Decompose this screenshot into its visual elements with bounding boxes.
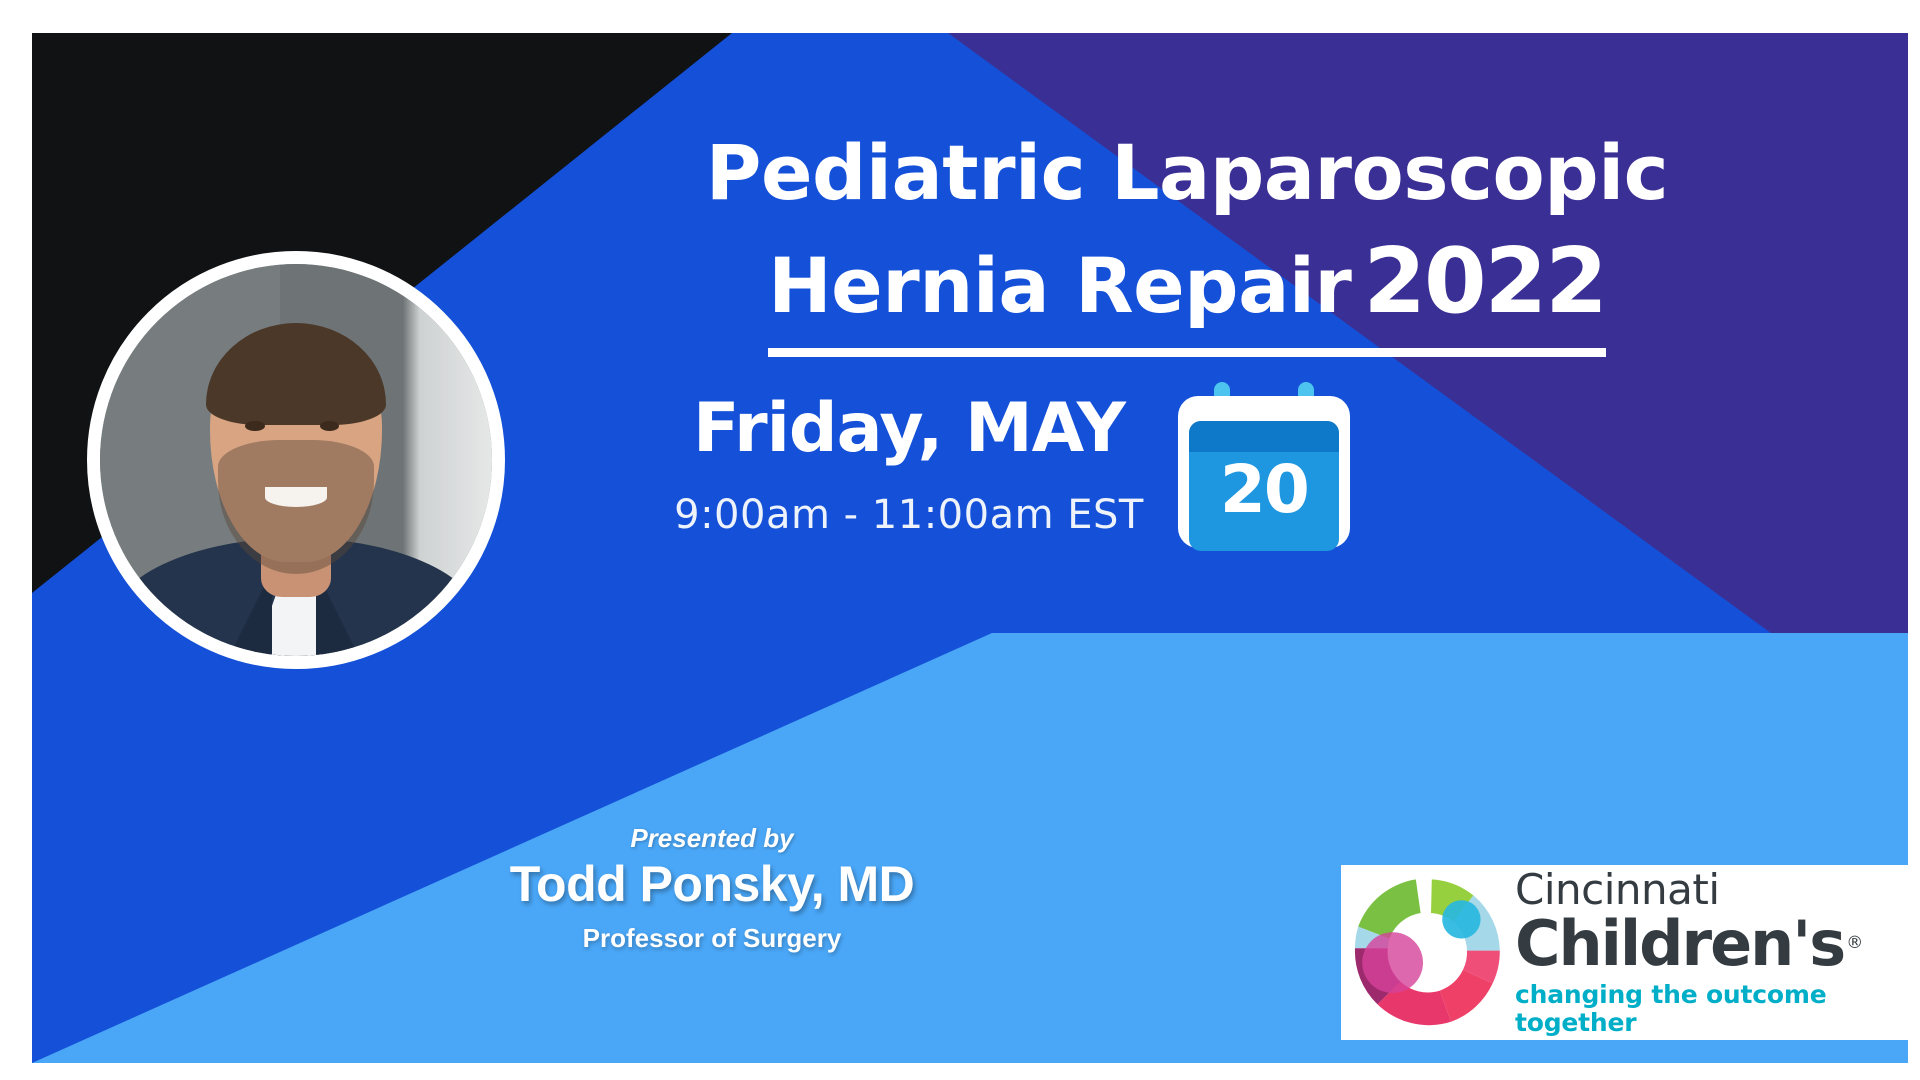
presenter-name: Todd Ponsky, MD [362, 854, 1062, 915]
portrait-eye-left [245, 421, 265, 431]
event-announcement-slide: Pediatric Laparoscopic Hernia Repair2022… [32, 33, 1908, 1063]
calendar-frame: 20 [1178, 396, 1350, 548]
title-line-2-underlined: Hernia Repair2022 [768, 223, 1606, 357]
portrait-eyebrow-left [237, 401, 272, 410]
presentation-slide-canvas: Pediatric Laparoscopic Hernia Repair2022… [0, 0, 1920, 1080]
cincinnati-childrens-logo: Cincinnati Children's ® changing the out… [1341, 865, 1908, 1040]
presenter-portrait-photo [100, 264, 492, 656]
title-line-2-text: Hernia Repair [768, 241, 1351, 330]
portrait-eye-right [320, 421, 340, 431]
event-date-label: Friday, MAY [674, 391, 1144, 467]
cincinnati-childrens-ring-logo-icon [1347, 873, 1507, 1033]
logo-tagline: changing the outcome together [1515, 981, 1908, 1036]
event-datetime-block: Friday, MAY 9:00am - 11:00am EST 20 [532, 388, 1492, 548]
calendar-header-band [1189, 421, 1339, 452]
logo-line-childrens: Children's [1515, 913, 1844, 975]
presented-by-label: Presented by [362, 823, 1062, 854]
registered-trademark-icon: ® [1846, 935, 1863, 952]
slide-title-block: Pediatric Laparoscopic Hernia Repair2022 [502, 123, 1872, 357]
event-datetime-text-column: Friday, MAY 9:00am - 11:00am EST [674, 391, 1144, 545]
cincinnati-childrens-logo-text: Cincinnati Children's ® changing the out… [1515, 869, 1908, 1036]
logo-line-childrens-row: Children's ® [1515, 913, 1908, 975]
calendar-icon: 20 [1178, 382, 1350, 548]
portrait-smile [265, 487, 328, 507]
logo-line-cincinnati: Cincinnati [1515, 869, 1908, 911]
title-line-1: Pediatric Laparoscopic [502, 123, 1872, 223]
presenter-title: Professor of Surgery [362, 921, 1062, 956]
portrait-eyebrow-right [316, 401, 351, 410]
event-datetime-row: Friday, MAY 9:00am - 11:00am EST 20 [532, 388, 1492, 548]
presenter-portrait [87, 251, 505, 669]
calendar-body: 20 [1189, 421, 1339, 551]
calendar-day-number: 20 [1189, 457, 1339, 523]
presenter-block: Presented by Todd Ponsky, MD Professor o… [362, 823, 1062, 956]
title-year: 2022 [1363, 229, 1606, 334]
event-time-label: 9:00am - 11:00am EST [674, 485, 1144, 545]
